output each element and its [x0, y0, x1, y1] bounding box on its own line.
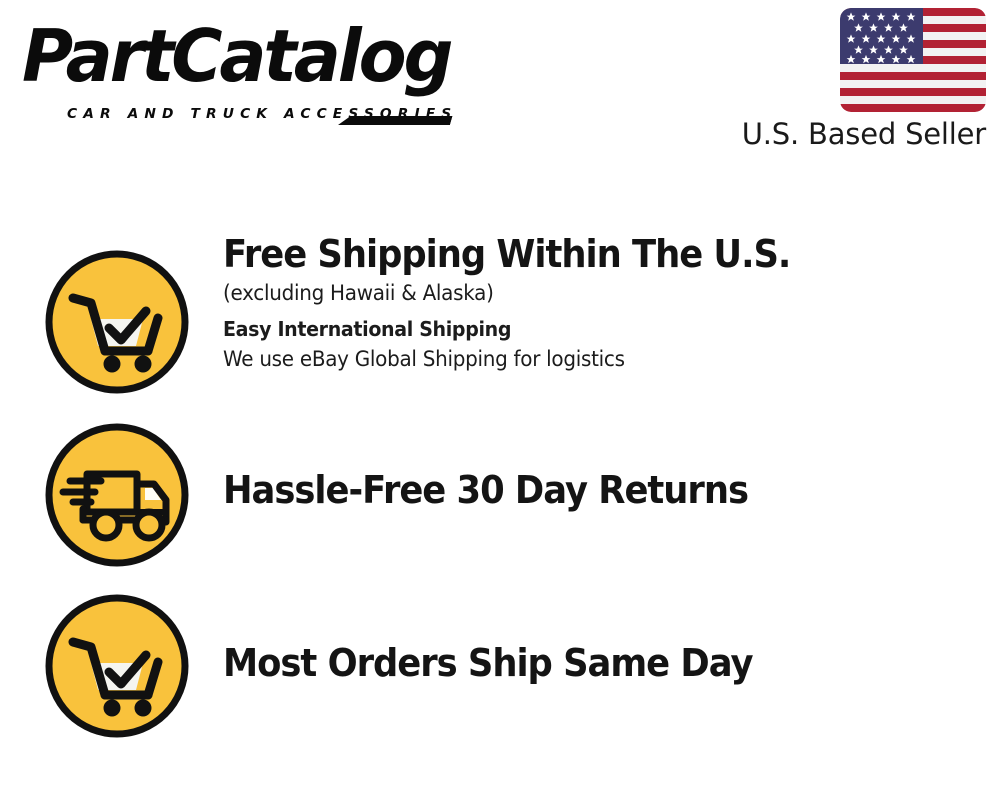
cart-check-icon [43, 592, 191, 740]
feature-text-block: Most Orders Ship Same Day [223, 639, 980, 687]
delivery-truck-icon [43, 421, 191, 569]
feature-sub-heading: Easy International Shipping [223, 314, 942, 344]
brand-tagline: CAR AND TRUCK ACCESSORIES [67, 106, 457, 122]
feature-row: Hassle-Free 30 Day Returns [0, 402, 1000, 574]
brand-wordmark: PartCatalog [22, 14, 450, 98]
page-header: PartCatalog CAR AND TRUCK ACCESSORIES [0, 0, 1000, 170]
feature-text-block: Free Shipping Within The U.S. (excluding… [223, 230, 980, 374]
feature-icon-badge [43, 421, 191, 569]
feature-headline: Most Orders Ship Same Day [223, 639, 927, 687]
feature-row: Most Orders Ship Same Day [0, 573, 1000, 745]
us-based-seller-label: U.S. Based Seller [714, 116, 986, 152]
feature-headline: Free Shipping Within The U.S. [223, 230, 927, 278]
feature-headline: Hassle-Free 30 Day Returns [223, 466, 927, 514]
feature-icon-badge [43, 248, 191, 396]
cart-check-icon [43, 248, 191, 396]
feature-subline: (excluding Hawaii & Alaska) [223, 278, 942, 308]
us-based-seller-badge: U.S. Based Seller [714, 8, 986, 152]
feature-sub-detail: We use eBay Global Shipping for logistic… [223, 344, 942, 374]
feature-text-block: Hassle-Free 30 Day Returns [223, 466, 980, 514]
feature-row: Free Shipping Within The U.S. (excluding… [0, 230, 1000, 402]
brand-logo[interactable]: PartCatalog CAR AND TRUCK ACCESSORIES [22, 18, 492, 114]
feature-icon-badge [43, 592, 191, 740]
us-flag-icon [840, 8, 986, 112]
